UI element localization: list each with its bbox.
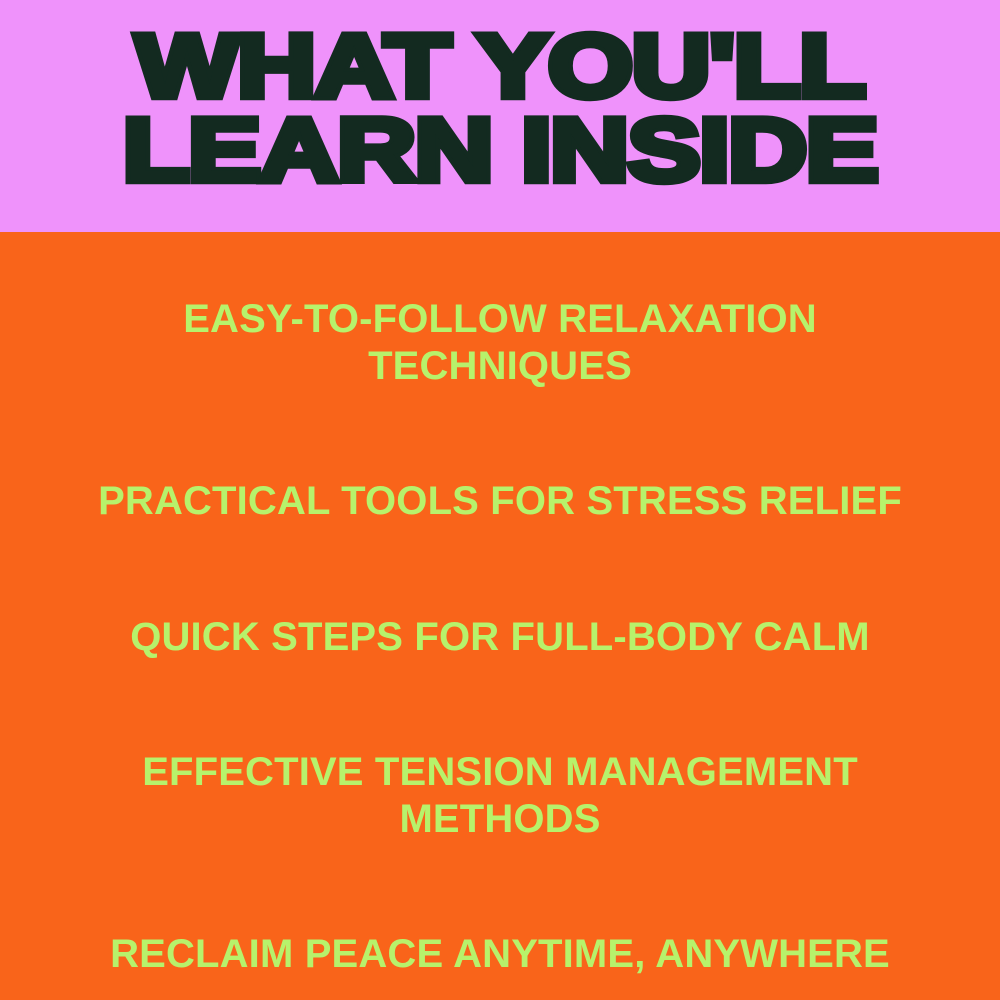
headline-line-2: LEARN INSIDE xyxy=(0,112,1000,189)
promo-poster: WHAT YOU'LL LEARN INSIDE EASY-TO-FOLLOW … xyxy=(0,0,1000,1000)
benefit-item-4: EFFECTIVE TENSION MANAGEMENT METHODS xyxy=(0,749,1000,843)
benefit-item-2: PRACTICAL TOOLS FOR STRESS RELIEF xyxy=(0,478,1000,525)
benefit-item-1: EASY-TO-FOLLOW RELAXATION TECHNIQUES xyxy=(0,296,1000,390)
header-band: WHAT YOU'LL LEARN INSIDE xyxy=(0,0,1000,232)
page-title: WHAT YOU'LL LEARN INSIDE xyxy=(0,30,1000,186)
benefits-list: EASY-TO-FOLLOW RELAXATION TECHNIQUES PRA… xyxy=(0,296,1000,978)
benefit-item-5: RECLAIM PEACE ANYTIME, ANYWHERE xyxy=(0,931,1000,978)
headline-line-1: WHAT YOU'LL xyxy=(0,28,1000,105)
benefit-item-3: QUICK STEPS FOR FULL-BODY CALM xyxy=(0,614,1000,661)
